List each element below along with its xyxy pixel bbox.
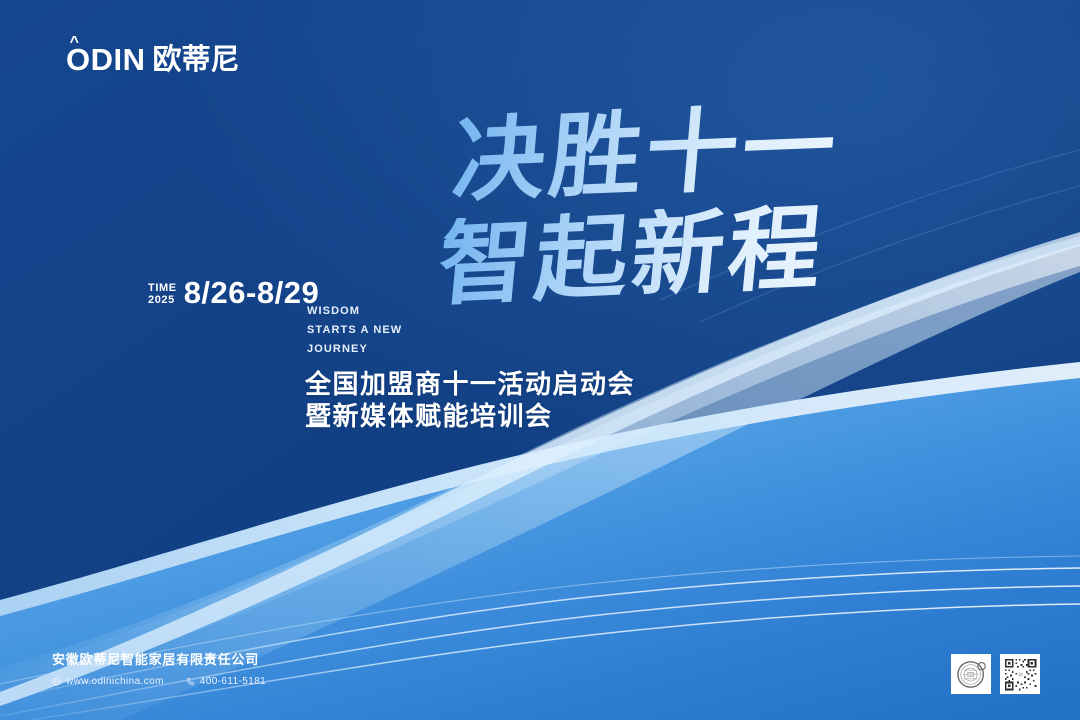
- seal-icon: [954, 657, 989, 692]
- logo-chinese-name: 欧蒂尼: [153, 45, 240, 74]
- tagline-line-3: JOURNEY: [307, 340, 402, 359]
- event-subtitle: 全国加盟商十一活动启动会 暨新媒体赋能培训会: [305, 369, 635, 433]
- background-artwork: [0, 0, 1080, 720]
- subtitle-line-1: 全国加盟商十一活动启动会: [305, 369, 635, 401]
- poster-title: 决胜十一 智起新程: [440, 106, 910, 336]
- footer-block: 安徽欧蒂尼智能家居有限责任公司 www.odinichina.com: [52, 652, 266, 687]
- date-range: 8/26-8/29: [184, 277, 320, 308]
- website-text: www.odinichina.com: [66, 676, 164, 687]
- logo-latin-rest: DIN: [91, 42, 146, 77]
- globe-icon: [52, 677, 61, 686]
- subtitle-line-2: 暨新媒体赋能培训会: [305, 401, 635, 433]
- company-name: 安徽欧蒂尼智能家居有限责任公司: [52, 652, 266, 670]
- qr-code-icon: [1003, 657, 1038, 692]
- phone-text: 400-611-5181: [200, 676, 266, 687]
- website-item[interactable]: www.odinichina.com: [52, 676, 164, 687]
- badge-group: [951, 654, 1040, 694]
- english-tagline: WISDOM STARTS A NEW JOURNEY: [307, 302, 402, 359]
- title-line-2: 智起新程: [434, 197, 915, 312]
- qr-code-badge[interactable]: [1000, 654, 1040, 694]
- date-label-time: TIME: [148, 282, 177, 294]
- logo-latin-mark: ^ ODIN: [66, 44, 146, 75]
- contact-row: www.odinichina.com 400-611-5181: [52, 676, 266, 687]
- company-seal-badge[interactable]: [951, 654, 991, 694]
- event-date: TIME 2025 8/26-8/29: [148, 277, 319, 308]
- event-poster: ^ ODIN 欧蒂尼 决胜十一 智起新程 TIME 2025 8/26-8/29…: [0, 0, 1080, 720]
- date-label-year: 2025: [148, 294, 177, 306]
- logo-macron: ^: [66, 35, 83, 51]
- title-line-1: 决胜十一: [449, 97, 915, 208]
- brand-logo: ^ ODIN 欧蒂尼: [66, 44, 240, 75]
- tagline-line-1: WISDOM: [307, 302, 402, 321]
- phone-item[interactable]: 400-611-5181: [186, 676, 266, 687]
- tagline-line-2: STARTS A NEW: [307, 321, 402, 340]
- date-label: TIME 2025: [148, 277, 177, 307]
- phone-icon: [186, 677, 195, 686]
